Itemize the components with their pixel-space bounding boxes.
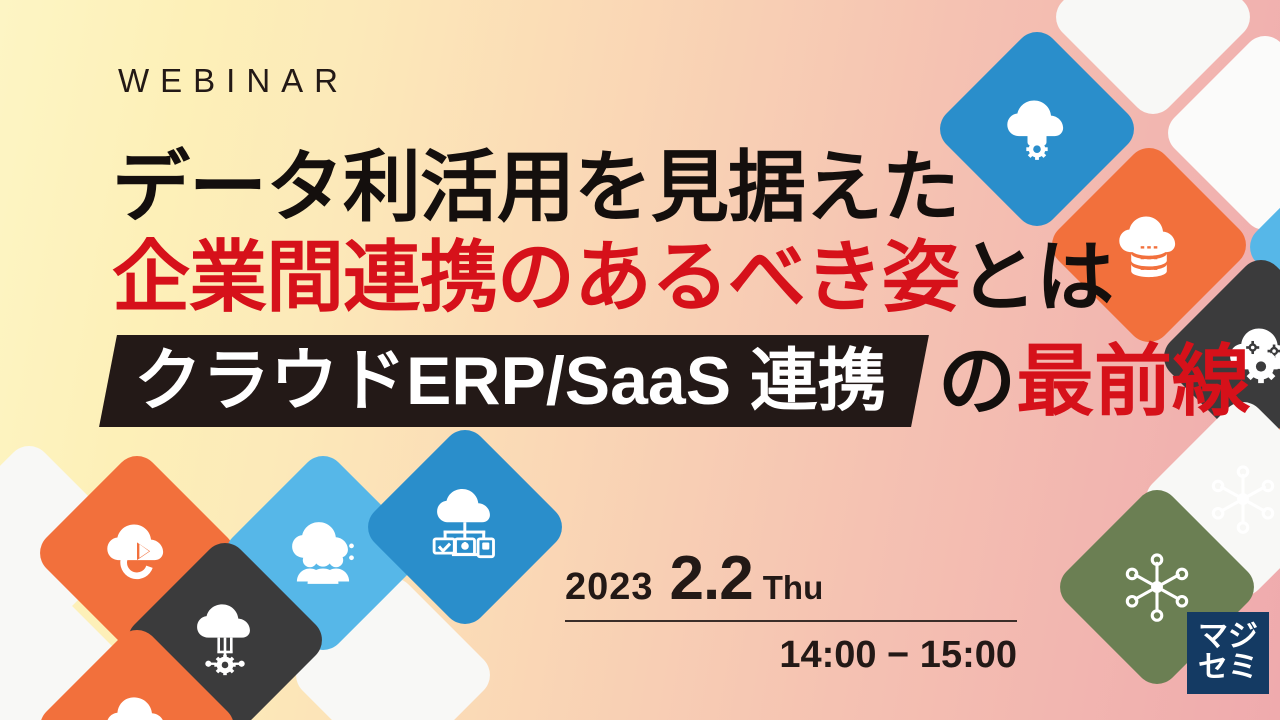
time-range: 14:00 − 15:00 bbox=[565, 634, 1017, 677]
date-day: 2.2 bbox=[670, 543, 753, 614]
headline-line-3-tail: の最前線 bbox=[938, 342, 1250, 420]
logo-line-1: マジ bbox=[1198, 622, 1258, 653]
date-row: 2023 2.2 Thu bbox=[565, 543, 1017, 620]
headline-line-3: クラウドERP/SaaS 連携 の最前線 bbox=[112, 332, 1172, 430]
headline-line-1: データ利活用を見据えた bbox=[112, 148, 1172, 226]
date-divider bbox=[565, 620, 1017, 622]
headline-line-2: 企業間連携のあるべき姿とは bbox=[112, 238, 1172, 316]
headline-block: データ利活用を見据えた 企業間連携のあるべき姿とは クラウドERP/SaaS 連… bbox=[112, 148, 1172, 430]
majisemi-logo: マジ セミ bbox=[1187, 612, 1269, 694]
headline-line-2-emphasis: 企業間連携のあるべき姿 bbox=[112, 233, 959, 321]
logo-line-2: セミ bbox=[1198, 653, 1258, 684]
banner-content: WEBINAR データ利活用を見据えた 企業間連携のあるべき姿とは クラウドER… bbox=[0, 0, 1280, 720]
headline-ribbon: クラウドERP/SaaS 連携 bbox=[99, 335, 929, 427]
webinar-banner: WEBINAR データ利活用を見据えた 企業間連携のあるべき姿とは クラウドER… bbox=[0, 0, 1280, 720]
headline-ribbon-label: クラウドERP/SaaS 連携 bbox=[134, 347, 886, 415]
date-year: 2023 bbox=[565, 566, 654, 609]
date-weekday: Thu bbox=[763, 569, 823, 607]
headline-line-3-particle: の bbox=[938, 337, 1016, 425]
headline-line-2-tail: とは bbox=[959, 233, 1113, 321]
headline-line-3-emphasis: 最前線 bbox=[1016, 337, 1250, 425]
kicker-label: WEBINAR bbox=[118, 62, 349, 100]
date-block: 2023 2.2 Thu 14:00 − 15:00 bbox=[565, 543, 1017, 677]
